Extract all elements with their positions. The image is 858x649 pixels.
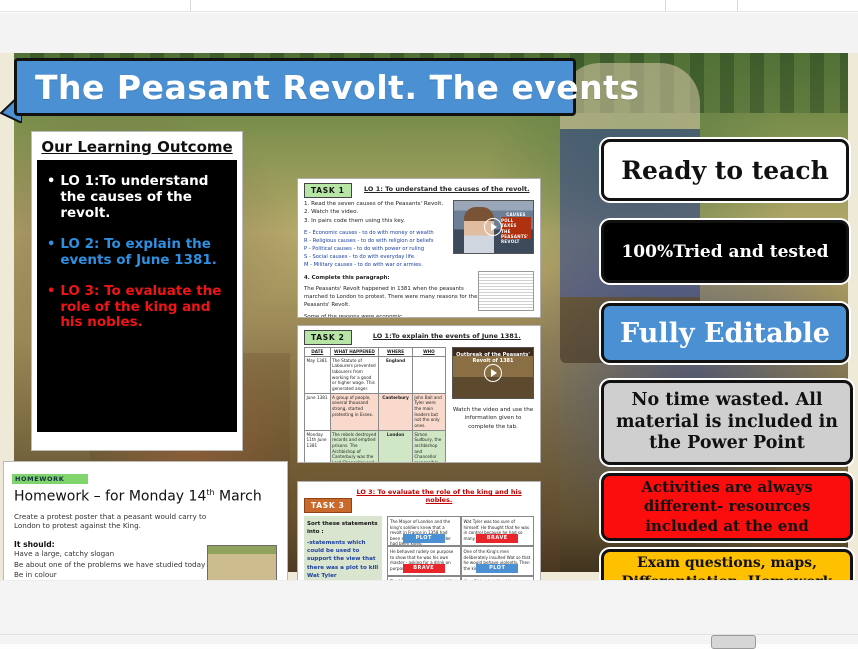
statement-card[interactable]: The Mayor of London struck Wat down beca… [387,576,461,580]
table-header-row: DATE WHAT HAPPENED WHERE WHO [305,348,446,357]
homework-card: HOMEWORK Homework – for Monday 14th Marc… [3,461,288,580]
task-3-instruction-plot: -statements which could be used to suppo… [307,539,379,580]
homework-manuscript-thumbnail [207,545,277,580]
task-3-card: LO 3: To evaluate the role of the king a… [297,481,541,580]
statement-card[interactable]: One of the King's men deliberately insul… [461,546,535,576]
column-header-who: WHO [412,348,445,357]
video-badge-line: THE PEASANTS' REVOLT [501,229,531,244]
task-1-key-line: S - Social causes - to do with everyday … [304,253,447,261]
learning-outcome-board: • LO 1:To understand the causes of the r… [37,160,237,432]
task-1-paragraph: Some of the reasons were economic .... [304,314,482,318]
homework-tag: HOMEWORK [12,474,88,484]
homework-heading-after: March [215,489,262,505]
page-title: The Peasant Revolt. The events [35,68,640,107]
cell-who [412,356,445,393]
statement-tag[interactable]: PLOT [476,564,518,573]
video-badge-line: POLL TAXES [501,218,531,228]
statement-tag[interactable]: BRAVE [403,564,445,573]
table-row: June 1381 A group of people, several tho… [305,393,446,430]
table-row: May 1381 The Statute of Labourers preven… [305,356,446,393]
task-2-events-table: DATE WHAT HAPPENED WHERE WHO May 1381 Th… [304,347,446,463]
task-2-video-thumbnail[interactable]: Outbreak of the Peasants' Revolt of 1381 [452,347,534,399]
learning-outcome-item-1-text: LO 1:To understand the causes of the rev… [60,174,229,222]
column-header-what: WHAT HAPPENED [330,348,379,357]
learning-outcome-item-3: • LO 3: To evaluate the role of the king… [47,284,229,332]
task-1-card: TASK 1 LO 1: To understand the causes of… [297,178,541,318]
cell-what: A group of people, several thousand stro… [330,393,379,430]
statement-card[interactable]: King Richard realised that many people c… [461,576,535,580]
homework-intro: Create a protest poster that a peasant w… [14,512,229,531]
task-3-badge: TASK 3 [304,498,352,513]
slide-canvas: The Peasant Revolt. The events Our Learn… [0,53,858,580]
task-2-badge: TASK 2 [304,330,352,345]
bottom-action-button[interactable] [711,635,756,649]
chrome-tab-divider [190,0,191,12]
learning-outcome-heading: Our Learning Outcome [37,136,237,160]
task-1-lo: LO 1: To understand the causes of the re… [360,185,534,193]
task-1-video-thumbnail[interactable]: CAUSES POLL TAXES THE PEASANTS' REVOLT [453,200,534,254]
task-2-lo: LO 1:To explain the events of June 1381. [360,332,534,340]
task-3-instructions: Sort these statements into : -statements… [304,516,382,580]
learning-outcome-card: Our Learning Outcome • LO 1:To understan… [31,131,243,451]
task-1-step: 2. Watch the video. [304,208,447,216]
task-1-key-line: M - Military causes - to do with war or … [304,261,447,269]
task-1-key-line: E - Economic causes - to do with money o… [304,229,447,237]
cell-where: England [379,356,413,393]
homework-heading-before: Homework – for Monday 14 [14,489,206,505]
task-1-paragraph: The Peasants' Revolt happened in 1381 wh… [304,286,482,309]
bullet-icon: • [47,237,55,269]
statement-tag[interactable]: BRAVE [476,534,518,543]
badge-exam-questions: Exam questions, maps, Differentiation, H… [601,549,853,580]
task-2-caption: Watch the video and use the information … [452,406,534,431]
column-header-date: DATE [305,348,331,357]
table-row: Monday 11th June 1381 The rebels destroy… [305,430,446,463]
task-1-step: 3. In pairs code them using this key. [304,217,447,225]
task-3-lo: LO 3: To evaluate the role of the king a… [344,488,534,504]
homework-heading-sup: th [206,488,214,497]
task-1-key-line: P - Political causes - to do with power … [304,245,447,253]
chrome-tab-divider [737,0,738,12]
cell-date: May 1381 [305,356,331,393]
badge-ready-to-teach: Ready to teach [601,139,849,201]
video-badge-line: CAUSES [506,212,525,217]
learning-outcome-item-1: • LO 1:To understand the causes of the r… [47,174,229,222]
video-caption-badge: CAUSES POLL TAXES THE PEASANTS' REVOLT [501,217,531,239]
task-1-worksheet-thumbnail [478,271,534,311]
task-1-step: 1. Read the seven causes of the Peasants… [304,200,447,208]
statement-card[interactable]: He behaved rudely on purpose to show tha… [387,546,461,576]
cell-date: June 1381 [305,393,331,430]
task-3-instruction-head: Sort these statements into : [307,520,379,536]
task-1-step4: 4. Complete this paragraph: [304,275,482,283]
task-2-video-title: Outbreak of the Peasants' Revolt of 1381 [453,352,533,365]
cell-where: Canterbury [379,393,413,430]
task-2-card: TASK 2 LO 1:To explain the events of Jun… [297,325,541,463]
badge-tried-and-tested: 100%Tried and tested [601,220,849,283]
badge-no-time-wasted: No time wasted. All material is included… [601,380,853,465]
learning-outcome-item-3-text: LO 3: To evaluate the role of the king a… [60,284,229,332]
task-1-key-line: R - Religious causes - to do with religi… [304,237,447,245]
bullet-icon: • [47,174,55,222]
column-header-where: WHERE [379,348,413,357]
cell-where: London [379,430,413,463]
learning-outcome-item-2: • LO 2: To explain the events of June 13… [47,237,229,269]
badge-activities-different: Activities are always different- resourc… [601,473,853,541]
browser-toolbar-area [0,13,858,53]
play-icon[interactable] [484,364,502,382]
learning-outcome-item-2-text: LO 2: To explain the events of June 1381… [60,237,229,269]
chrome-tab-divider [665,0,666,12]
statement-text: King Richard realised that many people c… [464,579,530,580]
badge-fully-editable: Fully Editable [601,303,849,363]
homework-heading: Homework – for Monday 14th March [14,488,279,505]
cell-date: Monday 11th June 1381 [305,430,331,463]
play-icon[interactable] [484,218,502,236]
statement-tag[interactable]: PLOT [403,534,445,543]
task-1-badge: TASK 1 [304,183,352,198]
slide-title-bubble: The Peasant Revolt. The events [14,58,576,116]
bullet-icon: • [47,284,55,332]
cell-who: Simon Sudbury, the archbishop and Chance… [412,430,445,463]
browser-top-strip [0,0,858,12]
statement-card[interactable]: The Mayor of London and the king's soldi… [387,516,461,546]
cell-who: John Ball and Tyler were the main leader… [412,393,445,430]
statement-text: The Mayor of London struck Wat down beca… [390,579,456,580]
task-3-statement-grid: The Mayor of London and the king's soldi… [387,516,534,580]
cell-what: The rebels destroyed records and emptied… [330,430,379,463]
statement-card[interactable]: Wat Tyler was too sure of himself. He th… [461,516,535,546]
cell-what: The Statute of Labourers prevented labou… [330,356,379,393]
